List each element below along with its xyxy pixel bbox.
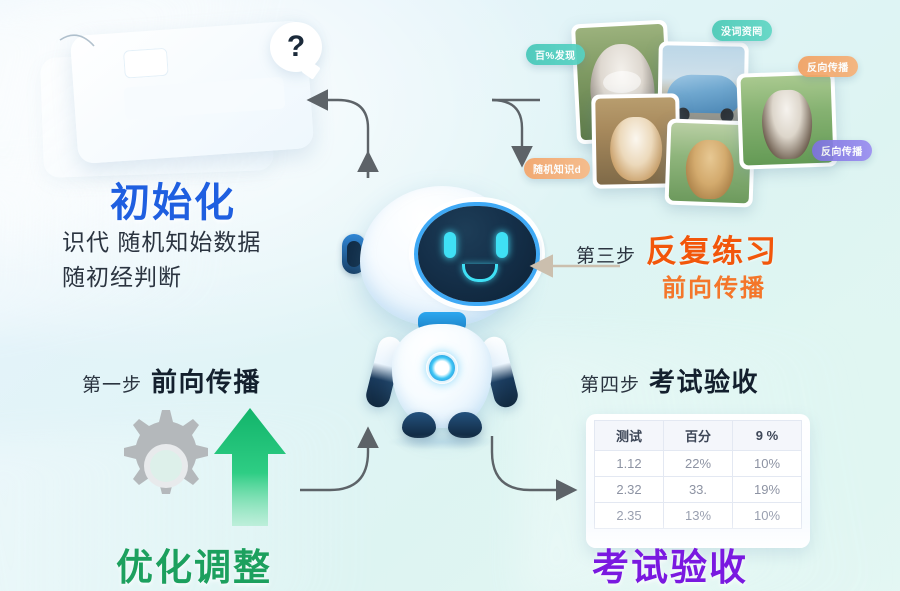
tag-purple-1: 反向传播 — [812, 140, 872, 161]
up-arrow-icon — [214, 408, 286, 526]
table-cell: 2.32 — [595, 477, 664, 503]
init-description: 识代 随机知始数据 随初经判断 — [62, 225, 261, 294]
step1-label: 第一步 — [82, 375, 142, 396]
step1-title: 前向传播 — [151, 367, 261, 397]
step4-block: 第四步考试验收 — [580, 362, 759, 399]
ai-robot-mascot — [326, 186, 558, 454]
robot-head — [360, 186, 524, 326]
photo-collage: 百%发现 没词资罔 反向传播 随机知识d 反向传播 — [548, 6, 898, 196]
table-cell: 22% — [664, 451, 733, 477]
robot-eye-right — [496, 232, 508, 258]
table-header-cell: 百分 — [664, 421, 733, 451]
optimize-footer-label: 优化调整 — [116, 537, 272, 591]
gear-icon — [124, 410, 208, 494]
robot-core-icon — [426, 352, 458, 384]
exam-results-table: 测试 百分 9 % 1.12 22% 10% 2.32 33. 19% 2.35 — [594, 420, 802, 529]
table-cell: 33. — [664, 477, 733, 503]
step3-title: 反复练习 — [646, 234, 778, 269]
step1-block: 第一步前向传播 — [82, 362, 261, 399]
blank-card-stack: ? — [42, 28, 322, 180]
robot-eye-left — [444, 232, 456, 258]
table-header-cell: 9 % — [733, 421, 802, 451]
card-chip — [123, 48, 169, 79]
exam-footer-label: 考试验收 — [592, 537, 748, 591]
robot-body — [392, 324, 492, 428]
table-cell: 19% — [733, 477, 802, 503]
optimize-icons — [104, 404, 300, 536]
question-mark-glyph: ? — [287, 30, 305, 64]
table-header-cell: 测试 — [595, 421, 664, 451]
table-row: 2.32 33. 19% — [595, 477, 802, 503]
tag-orange-2: 随机知识d — [524, 158, 590, 179]
table-cell: 10% — [733, 451, 802, 477]
step4-label: 第四步 — [580, 375, 640, 396]
arrow-down-right — [492, 100, 522, 158]
table-cell: 1.12 — [595, 451, 664, 477]
tag-teal-2: 没词资罔 — [712, 20, 772, 41]
robot-shadow — [386, 434, 498, 450]
page-title-init: 初始化 — [110, 170, 236, 228]
step4-title: 考试验收 — [649, 367, 759, 397]
infographic-canvas: ? 百%发现 没词资罔 反向传播 随机知识d 反向传播 — [0, 0, 900, 591]
table-row: 1.12 22% 10% — [595, 451, 802, 477]
table-header-row: 测试 百分 9 % — [595, 421, 802, 451]
arrow-to-init — [316, 100, 368, 178]
step3-label: 第三步 — [576, 246, 636, 267]
robot-smile — [462, 264, 498, 282]
card-bar — [124, 77, 286, 120]
step3-subtitle: 前向传播 — [662, 268, 766, 303]
question-mark-icon: ? — [270, 22, 322, 72]
step3-block: 第三步反复练习 前向传播 — [576, 226, 778, 271]
robot-face-visor — [418, 206, 536, 302]
tag-teal-1: 百%发现 — [526, 44, 585, 65]
tag-orange-1: 反向传播 — [798, 56, 858, 77]
exam-results-panel: 测试 百分 9 % 1.12 22% 10% 2.32 33. 19% 2.35 — [586, 414, 810, 548]
